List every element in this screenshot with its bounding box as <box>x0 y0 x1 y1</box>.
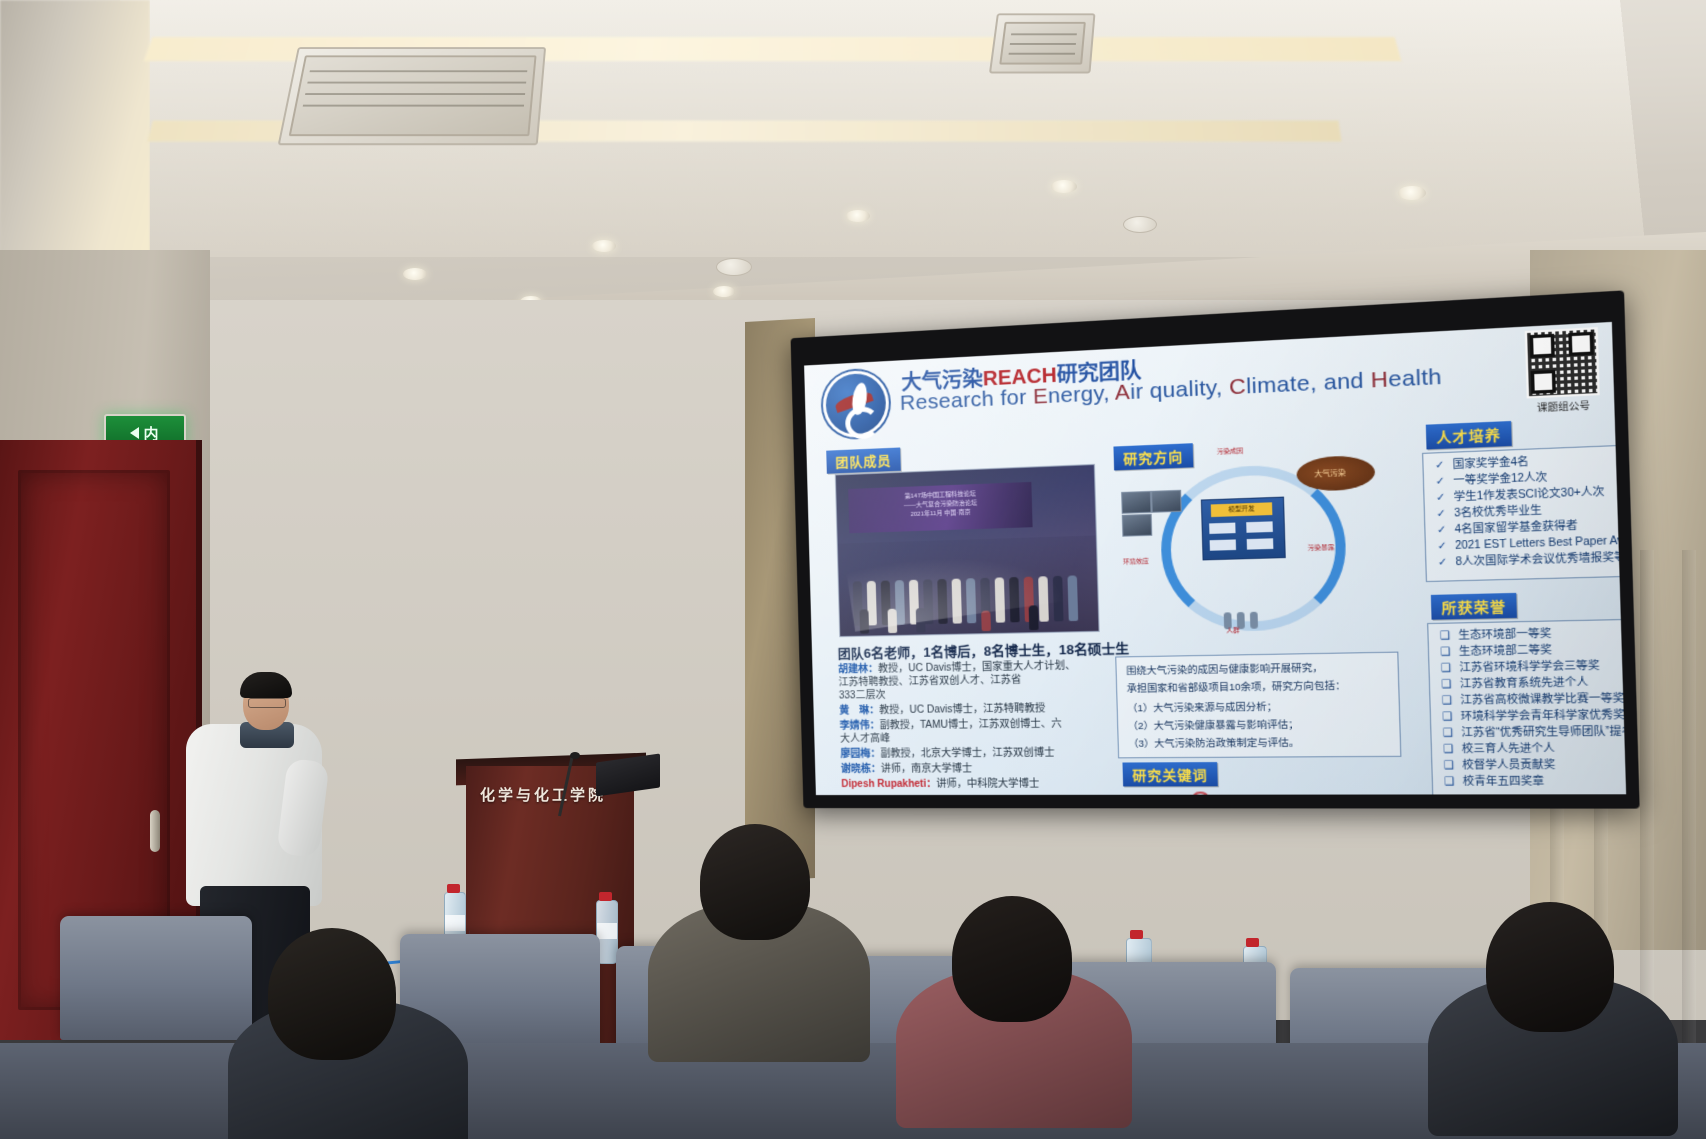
list-item-label: 学生1作发表SCI论文30+人次 <box>1453 486 1604 503</box>
list-item: ❑江苏省高校微课教学比赛一等奖 <box>1442 692 1625 709</box>
list-item: ❑环境科学学会青年科学家优秀奖 <box>1442 708 1625 725</box>
diagram-label-right: 污染暴露 <box>1308 542 1335 552</box>
member-name: Dipesh Rupakheti： <box>841 779 936 790</box>
model-core-title: 模型开发 <box>1211 502 1273 517</box>
downlight-1 <box>846 210 870 222</box>
keyword: Ozone <box>1190 789 1271 795</box>
presentation-slide: 大气污染REACH研究团队 Research for Energy, Air q… <box>804 322 1626 795</box>
ac-vent-right <box>989 13 1096 73</box>
section-tag-talent: 人才培养 <box>1426 421 1512 449</box>
check-icon: ✓ <box>1438 557 1448 569</box>
member-entry: 廖园梅：副教授，北京大学博士，江苏双创博士 <box>840 746 1150 761</box>
list-item: ❑校三育人先进个人 <box>1443 742 1555 758</box>
list-item: ❑校督学人员贡献奖 <box>1444 758 1556 774</box>
bottle-cap-2 <box>599 892 612 901</box>
team-photo: 第147场中国工程科技论坛 ——大气复合污染防治论坛 2021年11月 中国·南… <box>835 464 1100 637</box>
section-tag-honors: 所获荣誉 <box>1431 593 1517 620</box>
section-tag-members: 团队成员 <box>826 447 901 473</box>
list-item-label: 3名校优秀毕业生 <box>1454 505 1542 520</box>
list-item: ❑江苏省环境科学学会三等奖 <box>1441 659 1600 677</box>
member-name: 黄 琳： <box>839 705 879 717</box>
list-item: ❑江苏省教育系统先进个人 <box>1441 676 1588 693</box>
check-icon: ✓ <box>1437 540 1447 552</box>
list-item-label: 校青年五四奖章 <box>1463 776 1545 788</box>
member-detail: 副教授，北京大学博士，江苏双创博士 <box>880 747 1055 759</box>
research-cycle-diagram: 模型开发 大气污染 污染成因 环境效应 污染暴露 人群 <box>1114 437 1394 646</box>
list-item: ❑生态环境部一等奖 <box>1440 627 1552 644</box>
reach-logo-icon <box>822 369 890 439</box>
diagram-thumb-2 <box>1122 514 1153 537</box>
list-item-label: 8人次国际学术会议优秀墙报奖等 <box>1455 552 1626 569</box>
bottle-cap-3 <box>1130 930 1143 939</box>
checkbox-icon: ❑ <box>1442 711 1453 723</box>
checkbox-icon: ❑ <box>1444 760 1455 772</box>
checkbox-icon: ❑ <box>1443 727 1454 739</box>
downlight-3 <box>1398 186 1426 200</box>
bottle-cap-4 <box>1246 938 1259 947</box>
list-item: ❑校青年五四奖章 <box>1444 775 1544 790</box>
member-name: 廖园梅： <box>840 749 880 760</box>
list-item-label: 4名国家留学基金获得者 <box>1454 520 1577 536</box>
downlight-5 <box>713 286 735 297</box>
downlight-4 <box>592 240 616 252</box>
checkbox-icon: ❑ <box>1440 630 1451 642</box>
honors-list-box: ❑生态环境部一等奖❑生态环境部二等奖❑江苏省环境科学学会三等奖❑江苏省教育系统先… <box>1427 619 1626 795</box>
diagram-thumb-3 <box>1151 490 1182 513</box>
list-item-label: 生态环境部二等奖 <box>1459 645 1552 659</box>
door-handle[interactable] <box>150 810 160 852</box>
checkbox-icon: ❑ <box>1441 679 1452 691</box>
podium-label: 化学与化工学院 <box>480 784 606 805</box>
qr-code-icon[interactable] <box>1525 327 1600 398</box>
qr-caption: 课题组公号 <box>1524 397 1602 415</box>
list-item-label: 江苏省高校微课教学比赛一等奖 <box>1460 693 1624 707</box>
check-icon: ✓ <box>1436 492 1446 504</box>
presenter-glasses-icon <box>248 698 286 708</box>
list-item: ❑江苏省“优秀研究生导师团队”提名奖 <box>1443 725 1626 742</box>
checkbox-icon: ❑ <box>1440 646 1451 658</box>
photo-banner-text: 第147场中国工程科技论坛 ——大气复合污染防治论坛 2021年11月 中国·南… <box>854 488 1028 522</box>
list-item: ❑生态环境部二等奖 <box>1440 643 1552 660</box>
chair-back[interactable] <box>60 916 252 1040</box>
smoke-detector-1 <box>716 258 752 276</box>
audience-head <box>1486 902 1614 1032</box>
check-icon: ✓ <box>1436 508 1446 520</box>
lecture-hall-photo: 内 大气污染REACH研究团队 Research for Energy, Air… <box>0 0 1706 1139</box>
checkbox-icon: ❑ <box>1444 776 1455 788</box>
diagram-label-left-lower: 环境效应 <box>1123 556 1149 566</box>
presenter-hair <box>240 672 292 698</box>
check-icon: ✓ <box>1437 524 1447 536</box>
exit-arrow-icon <box>130 427 139 439</box>
list-item-label: 江苏省教育系统先进个人 <box>1460 677 1589 691</box>
talent-list-box: ✓国家奖学金4名✓一等奖学金12人次✓学生1作发表SCI论文30+人次✓3名校优… <box>1422 445 1626 582</box>
research-description-box: 围绕大气污染的成因与健康影响开展研究， 承担国家和省部级项目10余项，研究方向包… <box>1115 652 1401 759</box>
list-item-label: 江苏省环境科学学会三等奖 <box>1459 660 1600 674</box>
member-name: 李婧伟： <box>840 720 880 731</box>
member-detail: 讲师，南京大学博士 <box>881 763 973 775</box>
list-item-label: 一等奖学金12人次 <box>1453 472 1548 487</box>
projection-screen: 大气污染REACH研究团队 Research for Energy, Air q… <box>791 290 1640 808</box>
smoke-detector-2 <box>1123 216 1157 233</box>
check-icon: ✓ <box>1435 476 1445 488</box>
keyword-word-cloud: Ozoneregionsourcecontributionsectorforma… <box>1123 783 1413 795</box>
member-entry: 李婧伟：副教授，TAMU博士，江苏双创博士、六大人才高峰 <box>840 716 1150 745</box>
member-detail: 讲师，中科院大学博士 <box>936 778 1039 789</box>
downlight-2 <box>1051 180 1077 193</box>
downlight-6 <box>403 268 427 280</box>
list-item-label: 国家奖学金4名 <box>1452 456 1528 471</box>
microphone-icon <box>570 752 580 759</box>
model-core-box: 模型开发 <box>1201 497 1286 561</box>
checkbox-icon: ❑ <box>1443 744 1454 756</box>
list-item-label: 环境科学学会青年科学家优秀奖 <box>1461 709 1625 723</box>
list-item-label: 校督学人员贡献奖 <box>1462 759 1555 771</box>
member-entry: 胡建林：教授，UC Davis博士，国家重大人才计划、江苏特聘教授、江苏省双创人… <box>838 658 1148 703</box>
ac-vent-grille-2 <box>999 22 1086 65</box>
ac-vent-left <box>278 47 546 145</box>
list-item-label: 生态环境部一等奖 <box>1458 628 1551 642</box>
member-entry: 谢晓栋：讲师，南京大学博士 <box>841 761 1151 776</box>
diagram-label-people: 人群 <box>1226 625 1239 635</box>
photo-banner: 第147场中国工程科技论坛 ——大气复合污染防治论坛 2021年11月 中国·南… <box>848 482 1032 533</box>
audience-head <box>700 824 810 940</box>
checkbox-icon: ❑ <box>1441 663 1452 675</box>
member-entry: Dipesh Rupakheti：讲师，中科院大学博士 <box>841 777 1151 791</box>
audience-head <box>268 928 396 1060</box>
audience-head <box>952 896 1072 1022</box>
member-detail: 教授，UC Davis博士，江苏特聘教授 <box>879 703 1045 716</box>
pollution-cloud-icon: 大气污染 <box>1296 455 1375 492</box>
member-entry: 黄 琳：教授，UC Davis博士，江苏特聘教授 <box>839 701 1149 718</box>
ac-vent-grille <box>289 55 537 136</box>
checkbox-icon: ❑ <box>1442 695 1453 707</box>
member-name: 胡建林： <box>838 664 878 676</box>
diagram-thumb-1 <box>1121 491 1152 514</box>
member-name: 谢晓栋： <box>841 764 881 775</box>
list-item-label: 校三育人先进个人 <box>1462 743 1555 756</box>
bottle-cap-1 <box>447 884 460 893</box>
check-icon: ✓ <box>1435 460 1445 472</box>
diagram-label-top: 污染成因 <box>1217 445 1243 456</box>
list-item-label: 江苏省“优秀研究生导师团队”提名奖 <box>1461 726 1626 739</box>
